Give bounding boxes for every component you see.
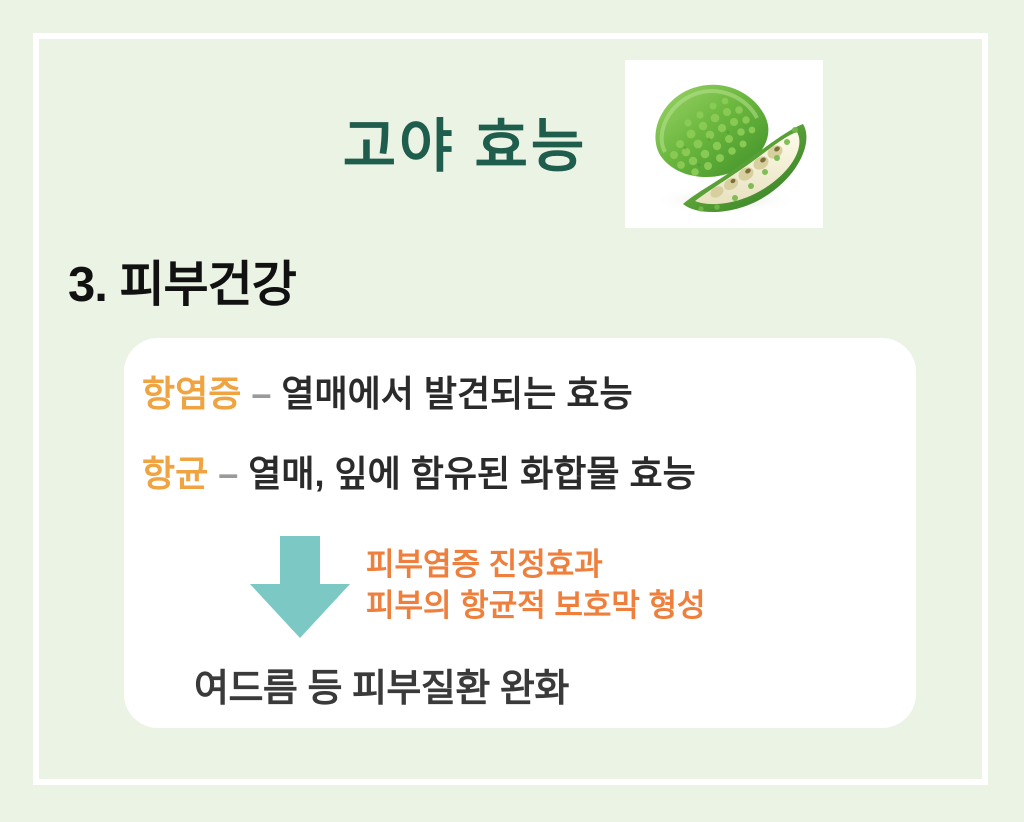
bitter-melon-goya-photo	[625, 60, 823, 228]
effect-keyword: 항염증	[142, 373, 241, 414]
page-title: 고야 효능	[320, 118, 610, 176]
arrow-down-shape	[246, 532, 354, 642]
effect-description: 열매에서 발견되는 효능	[281, 373, 632, 414]
conclusion-text: 여드름 등 피부질환 완화	[194, 657, 569, 712]
effect-row: 항균–열매, 잎에 함유된 화합물 효능	[142, 456, 696, 492]
callout-text: 피부염증 진정효과 피부의 항균적 보호막 형성	[366, 545, 706, 627]
bitter-melon-illustration	[625, 60, 823, 228]
header-area: 고야 효능	[0, 0, 1024, 240]
infographic-slide: 고야 효능	[0, 0, 1024, 822]
effect-row: 항염증–열매에서 발견되는 효능	[142, 376, 633, 412]
effect-keyword: 항균	[142, 453, 208, 494]
effect-description: 열매, 잎에 함유된 화합물 효능	[248, 453, 695, 494]
effect-separator: –	[208, 453, 248, 494]
effect-separator: –	[241, 373, 281, 414]
callout-line: 피부의 항균적 보호막 형성	[366, 586, 706, 627]
arrow-down-icon	[246, 532, 354, 642]
section-heading: 3. 피부건강	[68, 245, 296, 316]
callout-line: 피부염증 진정효과	[366, 545, 706, 586]
